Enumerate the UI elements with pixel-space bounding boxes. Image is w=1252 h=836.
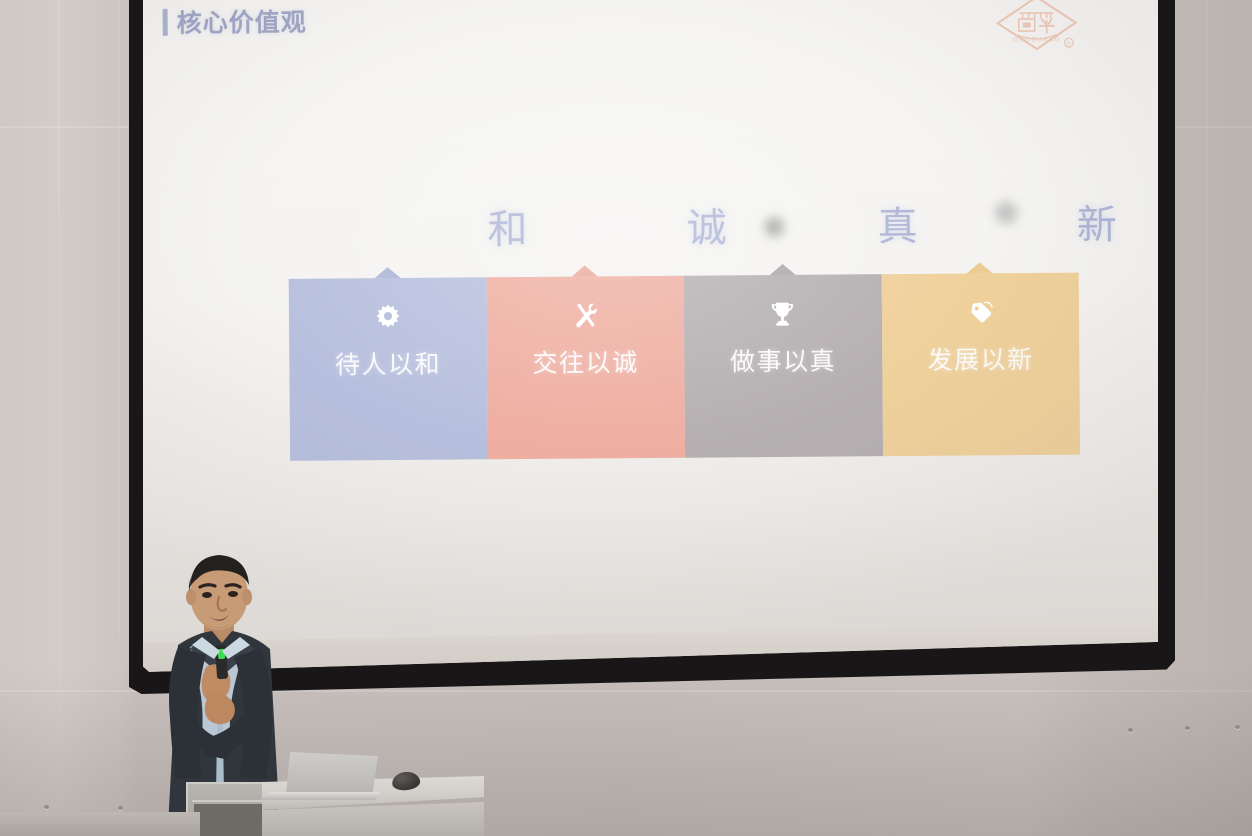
gear-icon bbox=[371, 300, 405, 334]
card-notch bbox=[967, 262, 993, 273]
macbook-laptop[interactable] bbox=[286, 752, 378, 794]
page-title: 核心价值观 bbox=[177, 3, 307, 40]
headword-cheng: 诚 bbox=[686, 195, 728, 253]
price-tag-icon bbox=[963, 295, 997, 329]
value-card-row: 待人以和 bbox=[289, 273, 1080, 461]
value-card-label: 待人以和 bbox=[335, 345, 441, 382]
headword-zhen: 真 bbox=[877, 194, 919, 252]
value-card-fazhan-yixin[interactable]: 发展以新 bbox=[881, 273, 1080, 457]
value-card-daren-yihe[interactable]: 待人以和 bbox=[289, 277, 488, 461]
value-card-label: 发展以新 bbox=[927, 340, 1033, 377]
floor-surface bbox=[0, 812, 200, 836]
curtain-grommet bbox=[1235, 725, 1240, 729]
curtain-grommet bbox=[44, 805, 49, 809]
value-card-label: 交往以诚 bbox=[532, 343, 638, 380]
card-notch bbox=[572, 265, 598, 276]
logo-romanized-text: GUOGUANG bbox=[1013, 36, 1061, 43]
slide-title-group: 核心价值观 bbox=[163, 3, 307, 40]
projector-dust-dot-2 bbox=[995, 201, 1018, 224]
headword-xin: 新 bbox=[1077, 192, 1119, 250]
value-card-label: 做事以真 bbox=[730, 342, 836, 379]
laptop-keyboard-base[interactable] bbox=[260, 792, 380, 800]
trophy-icon bbox=[766, 297, 800, 331]
podium-group bbox=[186, 776, 486, 836]
card-notch bbox=[374, 267, 400, 278]
guoguang-logo: GUOGUANG R bbox=[989, 0, 1083, 55]
value-card-jiaowang-yicheng[interactable]: 交往以诚 bbox=[486, 276, 685, 460]
curtain-grommet bbox=[1128, 728, 1133, 732]
projector-dust-dot-1 bbox=[764, 217, 784, 237]
headword-he: 和 bbox=[487, 197, 529, 255]
card-notch bbox=[769, 264, 795, 275]
title-accent-bar bbox=[163, 8, 168, 35]
curtain-grommet bbox=[1185, 726, 1190, 730]
curtain-grommet bbox=[118, 806, 123, 810]
hammer-wrench-icon bbox=[568, 298, 602, 332]
registered-trademark-symbol: R bbox=[1067, 41, 1071, 47]
presentation-photo-scene: 核心价值观 bbox=[0, 0, 1252, 836]
headword-row: 和 诚 真 新 bbox=[226, 193, 1056, 264]
value-card-zuoshi-yizhen[interactable]: 做事以真 bbox=[684, 274, 883, 458]
